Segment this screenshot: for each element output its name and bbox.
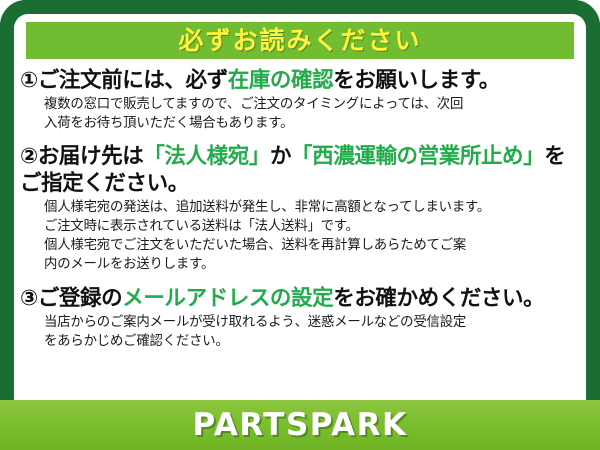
brand-footer: PARTSPARK: [0, 400, 600, 450]
notice-item-2-marker: ②: [20, 144, 38, 169]
notice-item-2-head-highlight-2: 「西濃運輸の営業所止め」: [291, 144, 544, 169]
notice-item-2-head-highlight: 「法人様宛」: [143, 144, 270, 169]
notice-item-1-head-post: をお願いします。: [333, 68, 500, 93]
notice-item-2-heading: ②お届け先は「法人様宛」か「西濃運輸の営業所止め」をご指定ください。: [20, 144, 574, 196]
notice-item-2-head-pre: お届け先は: [38, 144, 144, 169]
notice-item-3-head-pre: ご登録の: [38, 286, 122, 311]
notice-item-3-body-line-1: 当店からのご案内メールが受け取れるよう、迷惑メールなどの受信設定: [44, 313, 574, 332]
notice-banner: 必ずお読みください ①ご注文前には、必ず在庫の確認をお願いします。 複数の窓口で…: [0, 0, 600, 450]
notice-item-2: ②お届け先は「法人様宛」か「西濃運輸の営業所止め」をご指定ください。 個人様宅宛…: [20, 144, 574, 274]
notice-item-1-head-highlight: 在庫の確認: [228, 68, 334, 93]
title-band: 必ずお読みください: [26, 22, 574, 59]
banner-title: 必ずお読みください: [178, 28, 421, 53]
notice-item-3-head-highlight: メールアドレスの設定: [122, 286, 333, 311]
brand-name: PARTSPARK: [192, 410, 407, 441]
notice-item-2-body-line-1: 個人様宅宛の発送は、追加送料が発生し、非常に高額となってしまいます。: [44, 198, 574, 217]
notice-item-3: ③ご登録のメールアドレスの設定をお確かめください。 当店からのご案内メールが受け…: [20, 286, 574, 351]
notice-item-3-marker: ③: [20, 286, 38, 311]
notice-item-1-body-line-1: 複数の窓口で販売してますので、ご注文のタイミングによっては、次回: [44, 95, 574, 114]
notice-item-2-body: 個人様宅宛の発送は、追加送料が発生し、非常に高額となってしまいます。 ご注文時に…: [20, 198, 574, 274]
notice-item-1-body: 複数の窓口で販売してますので、ご注文のタイミングによっては、次回 入荷をお待ち頂…: [20, 95, 574, 133]
notice-item-1-heading: ①ご注文前には、必ず在庫の確認をお願いします。: [20, 68, 574, 94]
notice-item-3-heading: ③ご登録のメールアドレスの設定をお確かめください。: [20, 286, 574, 312]
notice-item-3-body: 当店からのご案内メールが受け取れるよう、迷惑メールなどの受信設定 をあらかじめご…: [20, 313, 574, 351]
notice-item-2-head-mid: か: [270, 144, 291, 169]
notice-item-1-head-pre: ご注文前には、必ず: [38, 68, 228, 93]
notice-item-1: ①ご注文前には、必ず在庫の確認をお願いします。 複数の窓口で販売してますので、ご…: [20, 68, 574, 133]
notice-item-3-head-post: をお確かめください。: [333, 286, 544, 311]
notice-list: ①ご注文前には、必ず在庫の確認をお願いします。 複数の窓口で販売してますので、ご…: [14, 64, 586, 396]
notice-item-2-body-line-3: 個人様宅宛でご注文をいただいた場合、送料を再計算しあらためてご案: [44, 236, 574, 255]
notice-item-2-body-line-2: ご注文時に表示されている送料は「法人送料」です。: [44, 217, 574, 236]
notice-item-1-body-line-2: 入荷をお待ち頂いただく場合もあります。: [44, 114, 574, 133]
notice-item-3-body-line-2: をあらかじめご確認ください。: [44, 332, 574, 351]
notice-item-1-marker: ①: [20, 68, 38, 93]
notice-item-2-body-line-4: 内のメールをお送りします。: [44, 255, 574, 274]
